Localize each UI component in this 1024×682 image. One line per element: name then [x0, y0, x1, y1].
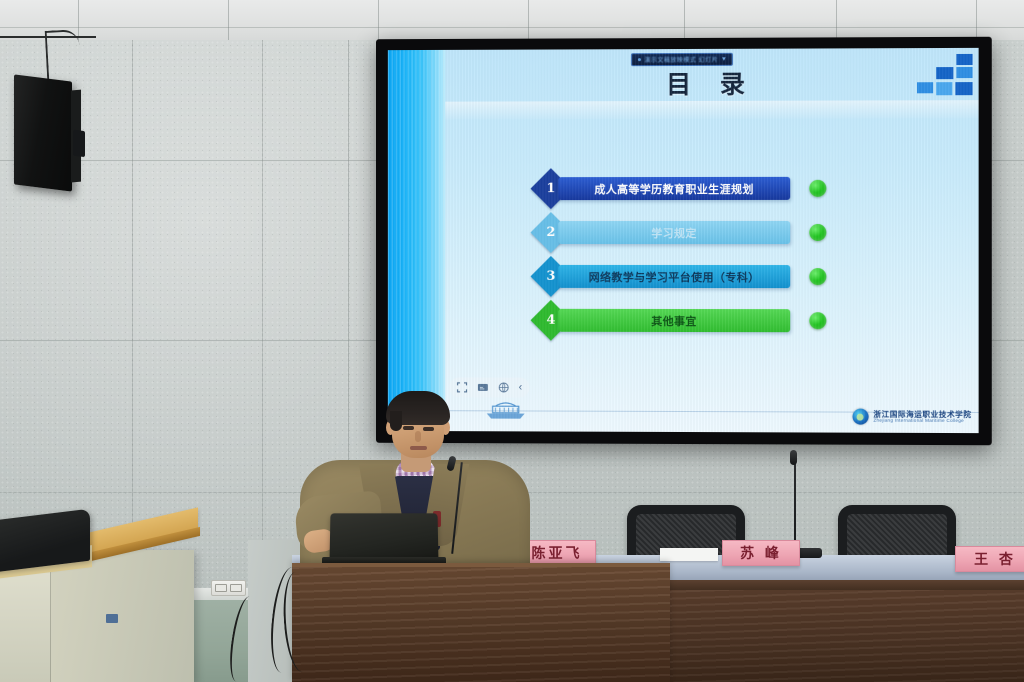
- item-status-dot: [809, 224, 826, 241]
- list-item: 1 成人高等学历教育职业生涯规划: [536, 177, 826, 200]
- slide-content-list: 1 成人高等学历教育职业生涯规划 2 学习规定: [536, 177, 826, 354]
- item-status-dot: [809, 312, 826, 329]
- presenter-desk: [292, 563, 670, 682]
- eye-left: [403, 426, 414, 430]
- item-number: 4: [546, 313, 555, 328]
- item-status-dot: [809, 180, 826, 197]
- chevron-down-icon[interactable]: ▾: [722, 56, 726, 63]
- hair: [386, 391, 450, 425]
- chevron-left-icon[interactable]: ‹: [519, 382, 523, 393]
- conference-room-scene: 演示文稿放映模式 幻灯片 ▾ 目 录 1 成人高等学历教育职业生涯规划: [0, 0, 1024, 682]
- globe-icon[interactable]: [498, 381, 510, 393]
- speaker-cable: [45, 29, 82, 83]
- item-label: 网络教学与学习平台使用（专科）: [589, 268, 760, 284]
- speaker-bracket: [73, 130, 85, 157]
- item-bar: 学习规定: [558, 221, 790, 244]
- eye-right: [423, 427, 434, 431]
- college-emblem-icon: [852, 409, 868, 425]
- nameplate: 王 杏: [955, 546, 1024, 572]
- lectern-control-panel[interactable]: [106, 614, 118, 623]
- slide-floating-toolbar[interactable]: ‹: [449, 377, 529, 397]
- annotate-icon[interactable]: [477, 381, 489, 393]
- slideshow-mode-label: 演示文稿放映模式 幻灯片: [644, 55, 718, 64]
- list-item: 2 学习规定: [536, 221, 826, 244]
- item-bar: 成人高等学历教育职业生涯规划: [558, 177, 790, 200]
- slide-title: 目 录: [445, 64, 978, 102]
- projection-screen: 演示文稿放映模式 幻灯片 ▾ 目 录 1 成人高等学历教育职业生涯规划: [376, 37, 992, 446]
- item-label: 其他事宜: [651, 312, 697, 328]
- nameplate-text: 陈亚飞: [532, 543, 583, 563]
- presentation-slide: 演示文稿放映模式 幻灯片 ▾ 目 录 1 成人高等学历教育职业生涯规划: [388, 48, 979, 433]
- nameplate: 苏 峰: [722, 540, 800, 566]
- nameplate-text: 苏 峰: [740, 543, 782, 563]
- microphone-head: [790, 450, 797, 465]
- college-logo: 浙江国际海运职业技术学院 Zhejiang International Mari…: [852, 409, 971, 425]
- item-label: 成人高等学历教育职业生涯规划: [594, 180, 753, 196]
- nameplate-text: 王 杏: [974, 549, 1016, 569]
- slide-left-band: [388, 50, 445, 431]
- wall-speaker: [14, 74, 72, 191]
- nose: [415, 431, 421, 442]
- mesh-chair: [838, 505, 956, 561]
- item-number: 1: [546, 181, 555, 196]
- slide-header-band: [445, 100, 978, 119]
- laptop-screen[interactable]: [330, 513, 439, 561]
- gooseneck-microphone: [794, 455, 796, 553]
- list-item: 4 其他事宜: [536, 309, 826, 332]
- wall-power-outlet: [211, 580, 246, 596]
- mouth: [410, 446, 427, 450]
- item-status-dot: [809, 268, 826, 285]
- college-name-en: Zhejiang International Maritime College: [873, 418, 971, 423]
- list-item: 3 网络教学与学习平台使用（专科）: [536, 265, 826, 288]
- lectern: [0, 516, 200, 682]
- item-bar: 其他事宜: [558, 309, 790, 332]
- fullscreen-icon[interactable]: [456, 381, 468, 393]
- item-number: 3: [546, 269, 555, 284]
- item-bar: 网络教学与学习平台使用（专科）: [558, 265, 790, 288]
- item-label: 学习规定: [651, 224, 697, 240]
- paper-sheet: [660, 548, 718, 561]
- item-number: 2: [546, 225, 555, 240]
- mode-dot-icon: [637, 58, 640, 61]
